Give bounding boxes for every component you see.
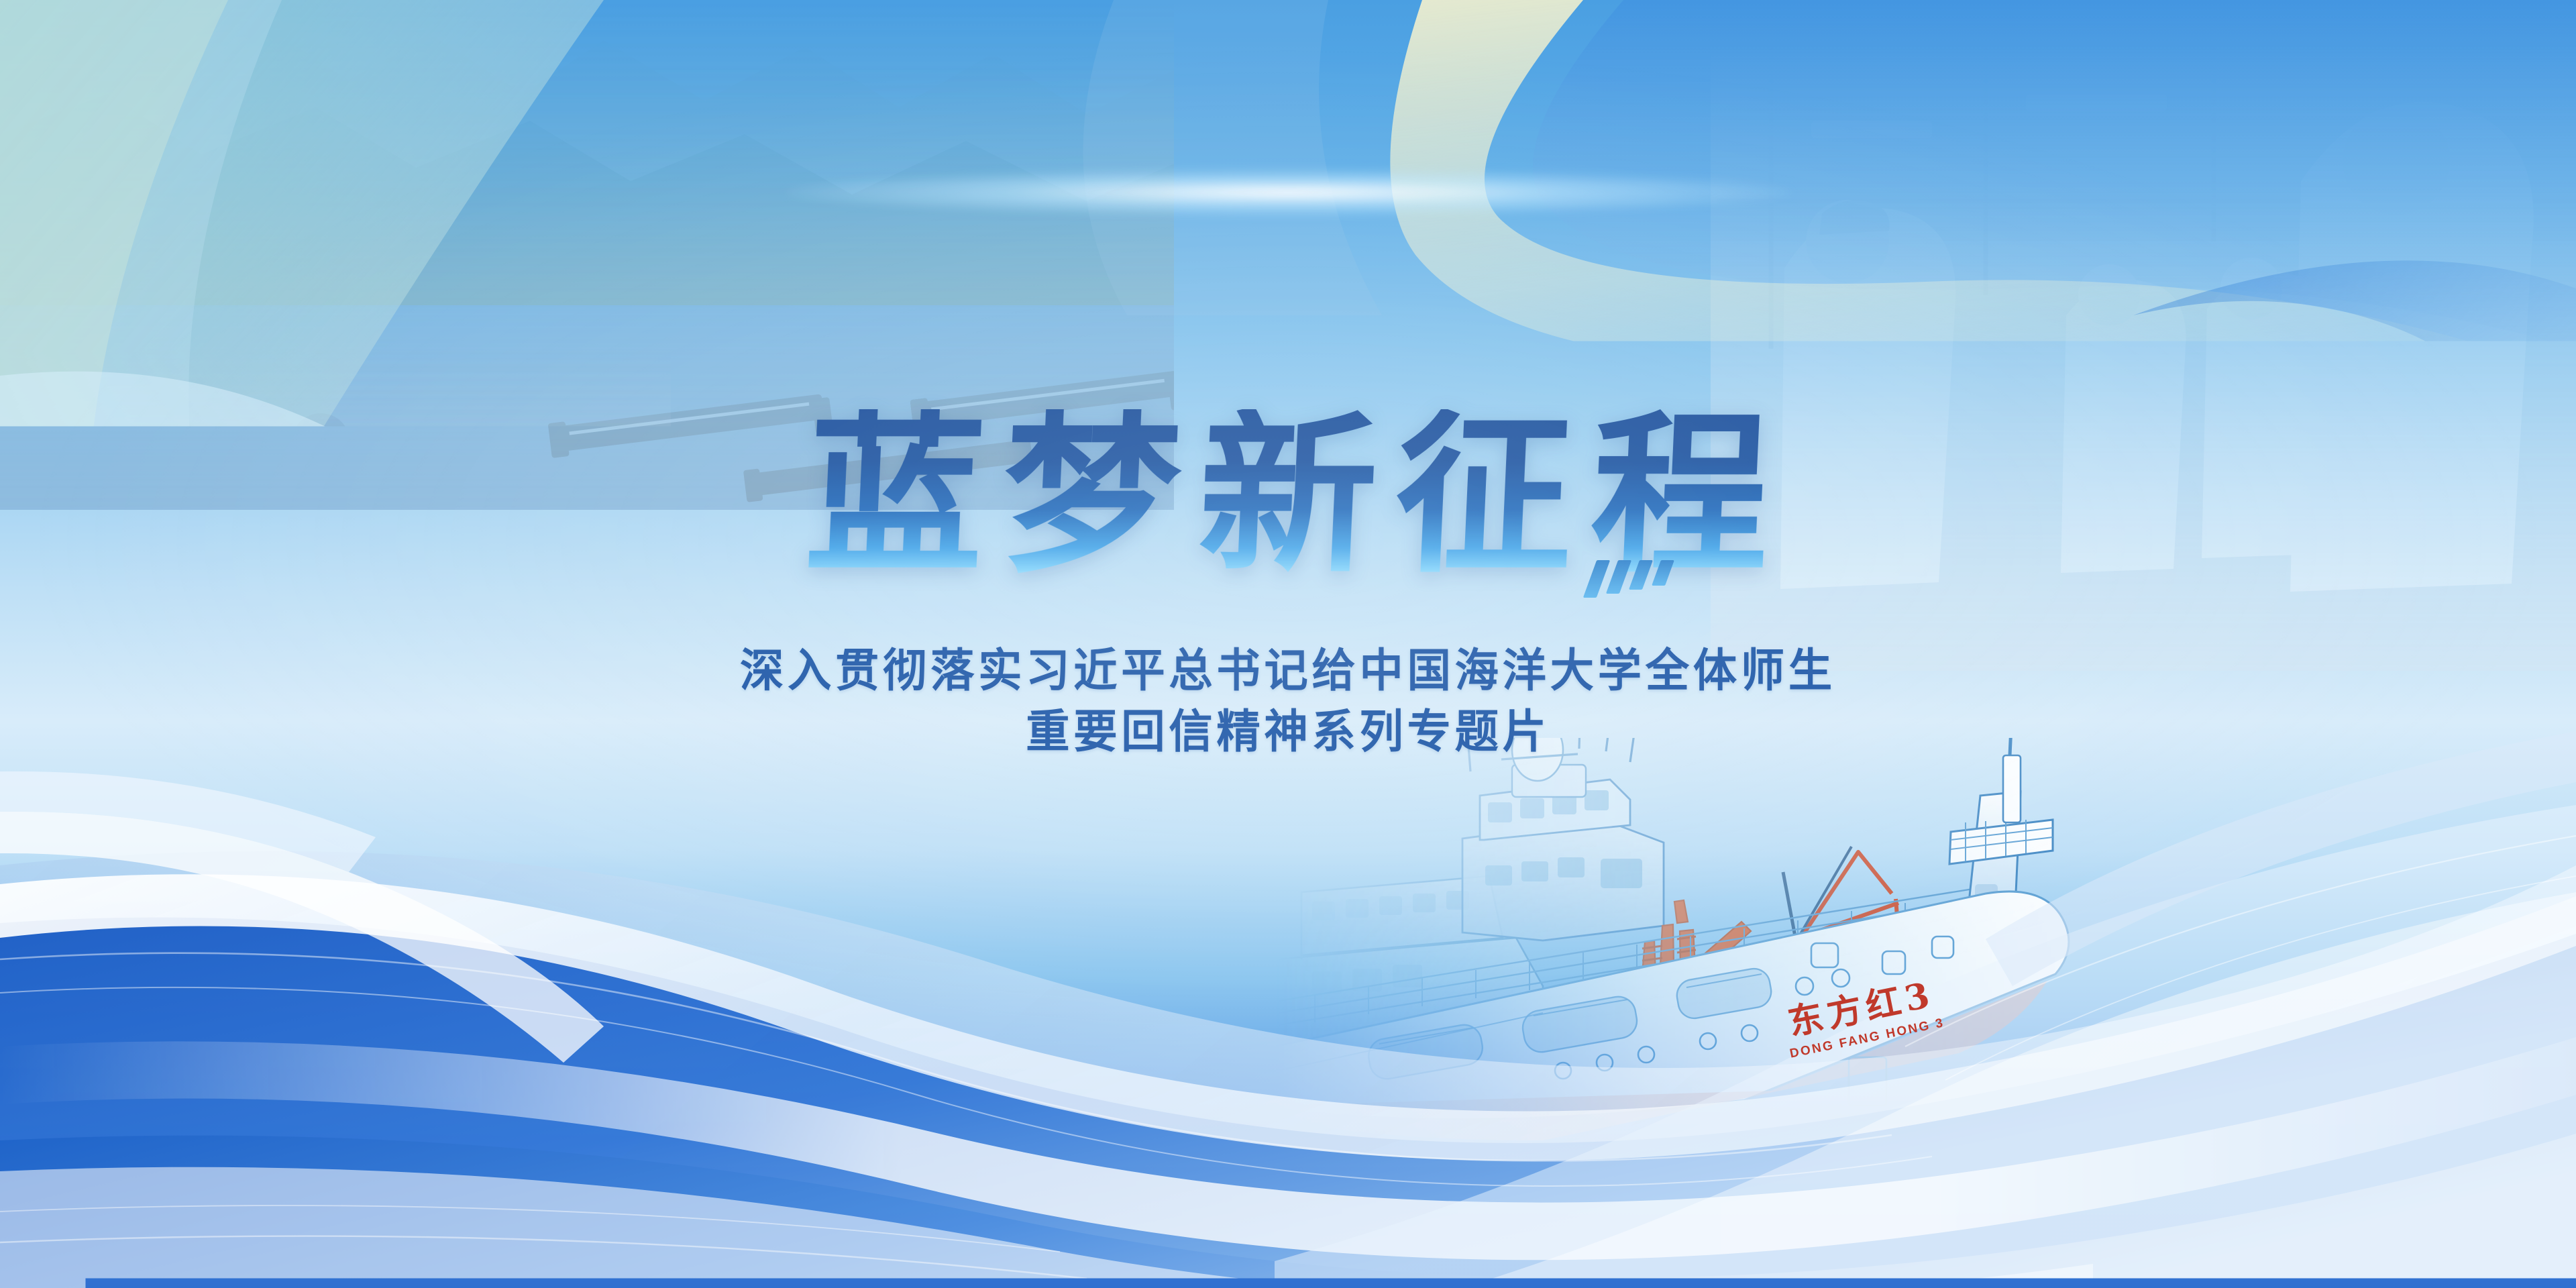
wave-ribbons-layer	[0, 0, 2576, 1288]
poster-canvas: 蓝梦新征程 深入贯彻落实习近平总书记给中国海洋大学全体师生 重要回信精神系列专题…	[0, 0, 2576, 1288]
